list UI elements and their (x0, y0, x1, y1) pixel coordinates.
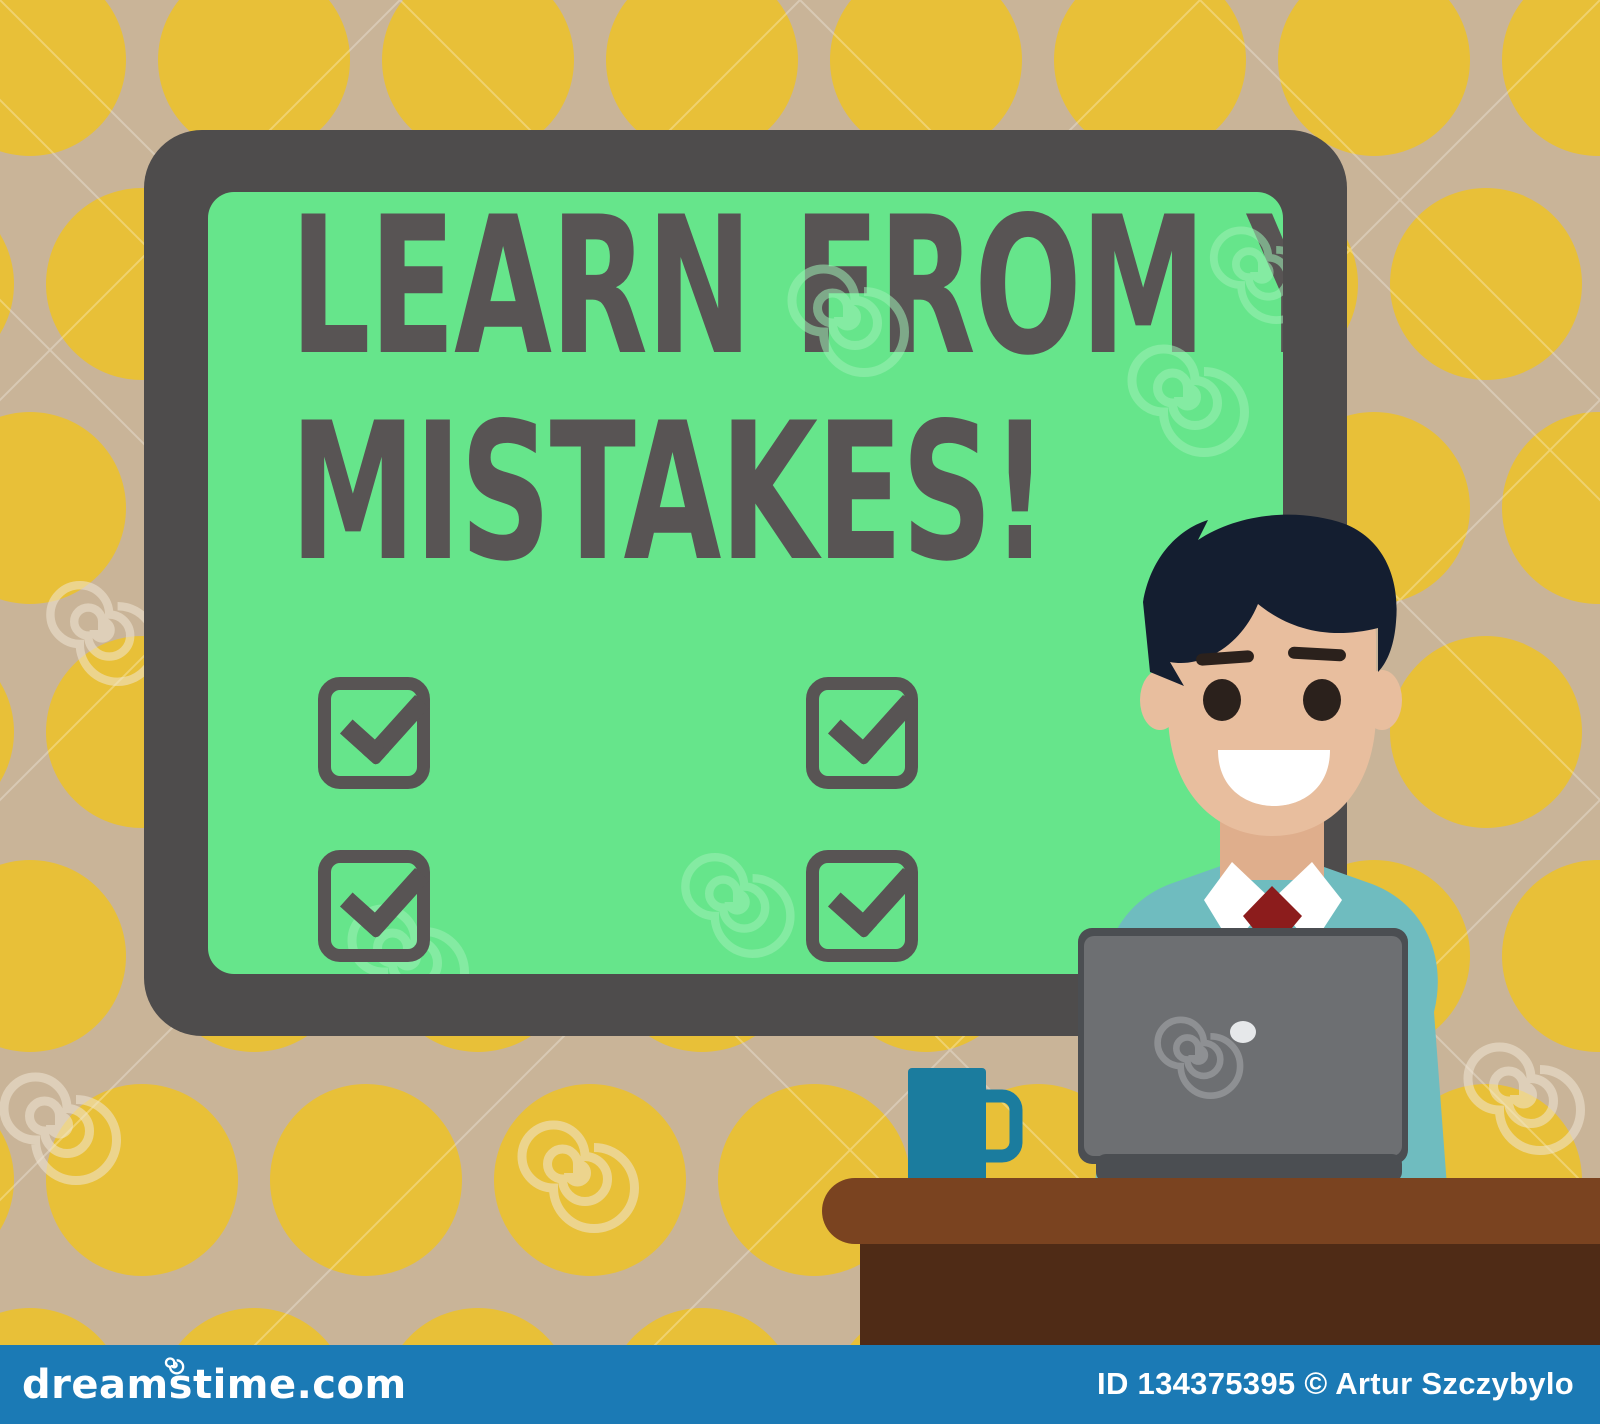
spiral-icon (1140, 1000, 1250, 1110)
eye-right (1303, 679, 1341, 721)
coffee-mug (908, 1068, 1016, 1182)
image-credit: ID 134375395 © Artur Szczybylo (1097, 1366, 1574, 1402)
desk-front (860, 1244, 1600, 1345)
person-at-laptop-illustration (0, 0, 1600, 1345)
dreamstime-logo[interactable]: dreamstime.com (22, 1362, 407, 1408)
mug-handle (986, 1096, 1016, 1156)
illustration-canvas: LEARN FROM YOUR MISTAKES! (0, 0, 1600, 1424)
desk-top (822, 1178, 1600, 1244)
spiral-icon (160, 1352, 186, 1378)
mug-body (908, 1068, 986, 1182)
eye-left (1203, 679, 1241, 721)
